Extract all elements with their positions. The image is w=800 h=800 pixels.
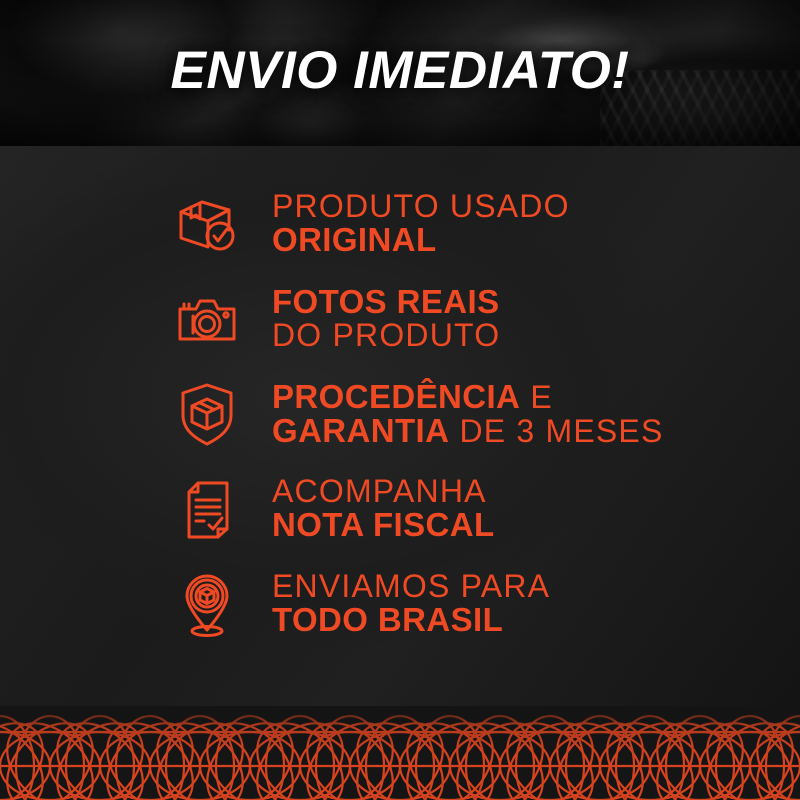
feature-line: NOTA FISCAL	[272, 508, 495, 542]
feature-line: GARANTIA DE 3 MESES	[272, 414, 664, 448]
list-item-text: ACOMPANHA NOTA FISCAL	[272, 475, 495, 541]
list-item-text: FOTOS REAIS DO PRODUTO	[272, 285, 500, 351]
features-section: PRODUTO USADO ORIGINAL	[0, 146, 800, 706]
promotional-banner: ENVIO IMEDIATO! PROD	[0, 0, 800, 800]
page-title: ENVIO IMEDIATO!	[0, 44, 800, 97]
banner-header: ENVIO IMEDIATO!	[0, 0, 800, 146]
feature-line: FOTOS REAIS	[272, 285, 500, 319]
list-item-text: PROCEDÊNCIA E GARANTIA DE 3 MESES	[272, 380, 664, 447]
list-item: PROCEDÊNCIA E GARANTIA DE 3 MESES	[168, 366, 788, 461]
document-check-icon	[168, 473, 246, 545]
list-item-text: PRODUTO USADO ORIGINAL	[272, 190, 570, 256]
features-list: PRODUTO USADO ORIGINAL	[168, 176, 788, 651]
shield-box-icon	[168, 378, 246, 450]
camera-icon	[168, 283, 246, 355]
feature-line-light: DE 3 MESES	[449, 413, 663, 449]
list-item: ACOMPANHA NOTA FISCAL	[168, 461, 788, 556]
feature-line: ENVIAMOS PARA	[272, 570, 550, 603]
feature-line: DO PRODUTO	[272, 319, 500, 352]
feature-line-bold: PROCEDÊNCIA	[272, 378, 520, 415]
feature-line: PRODUTO USADO	[272, 190, 570, 223]
floral-lattice-pattern	[0, 706, 800, 800]
location-pin-box-icon	[168, 568, 246, 640]
feature-line-light: E	[520, 379, 553, 415]
feature-line: PROCEDÊNCIA E	[272, 380, 664, 414]
list-item: ENVIAMOS PARA TODO BRASIL	[168, 556, 788, 651]
feature-line: TODO BRASIL	[272, 603, 550, 637]
feature-line-bold: GARANTIA	[272, 412, 449, 449]
feature-line: ORIGINAL	[272, 223, 570, 257]
feature-line: ACOMPANHA	[272, 475, 495, 508]
list-item-text: ENVIAMOS PARA TODO BRASIL	[272, 570, 550, 636]
list-item: FOTOS REAIS DO PRODUTO	[168, 271, 788, 366]
list-item: PRODUTO USADO ORIGINAL	[168, 176, 788, 271]
box-check-icon	[168, 188, 246, 260]
